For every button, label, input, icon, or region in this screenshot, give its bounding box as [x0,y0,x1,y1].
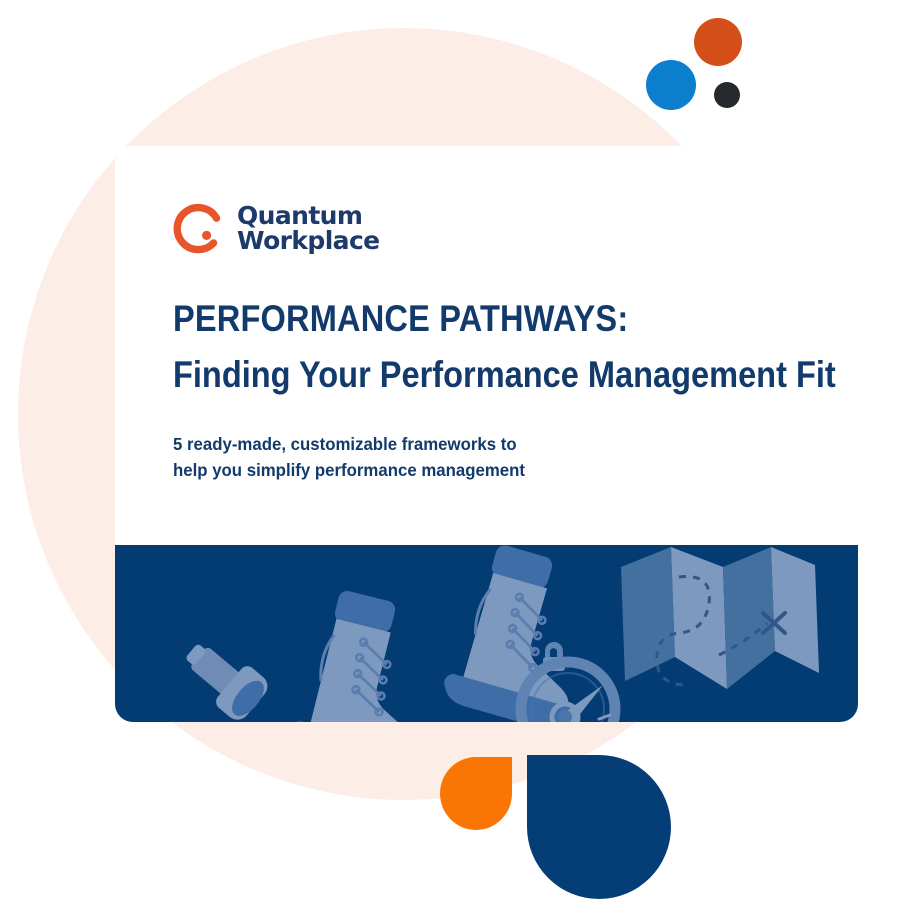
orange-dot [694,18,742,66]
cover-card-upper: Quantum Workplace PERFORMANCE PATHWAYS: … [115,146,858,545]
quantum-workplace-logo: Quantum Workplace [173,202,380,254]
charcoal-dot [714,82,740,108]
illustration-band [115,545,858,722]
logo-wordmark: Quantum Workplace [237,203,380,253]
orange-leaf-shape [440,757,512,830]
subhead-line-two: help you simplify performance management [173,457,624,483]
blue-dot [646,60,696,110]
cover-subhead: 5 ready-made, customizable frameworks to… [173,431,624,484]
title-kicker: PERFORMANCE PATHWAYS: [173,298,754,340]
logo-word-quantum: Quantum [237,203,380,228]
quantum-q-icon [173,202,225,254]
ebook-cover-card: Quantum Workplace PERFORMANCE PATHWAYS: … [115,146,858,722]
cover-artwork-stage: Quantum Workplace PERFORMANCE PATHWAYS: … [0,0,900,900]
title-main: Finding Your Performance Management Fit [173,354,754,396]
cover-headline: PERFORMANCE PATHWAYS: Finding Your Perfo… [173,298,833,396]
flashlight-icon [175,631,274,722]
logo-word-workplace: Workplace [237,228,380,253]
subhead-line-one: 5 ready-made, customizable frameworks to [173,431,624,457]
folded-map-icon [621,547,819,689]
navy-leaf-shape [527,755,671,899]
hiking-boot-left-icon [287,586,459,722]
